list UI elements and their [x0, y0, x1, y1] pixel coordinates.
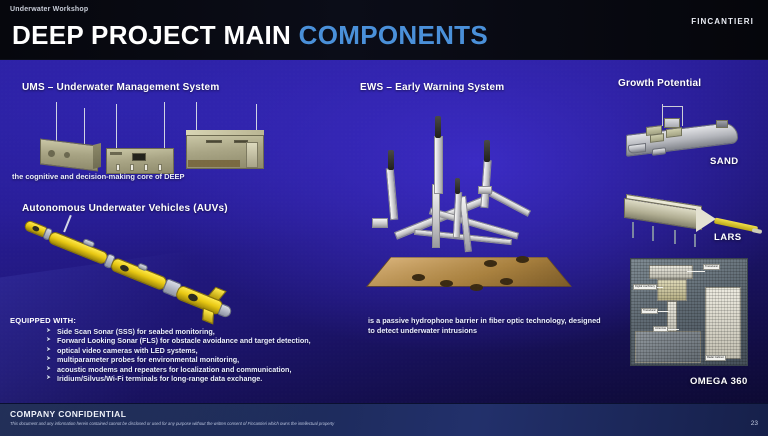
omega-antenna-panel [635, 331, 701, 363]
auv-mast [63, 215, 71, 232]
ews-bracket [372, 218, 388, 228]
container-band [188, 160, 240, 167]
section-heading-ews: EWS – Early Warning System [360, 82, 504, 93]
hydrophone-tip [435, 116, 441, 138]
slide-footer: COMPANY CONFIDENTIAL This document and a… [0, 403, 768, 436]
base-hole [516, 256, 529, 263]
antenna-icon [56, 102, 57, 142]
eyebrow-label: Underwater Workshop [10, 6, 88, 13]
boat-mast [662, 104, 663, 126]
lars-auv-nose [752, 228, 763, 234]
fincantieri-logo: FINCANTIERI [691, 17, 754, 26]
antenna-icon [164, 102, 165, 148]
boat-sponson [652, 147, 666, 156]
confidentiality-label: COMPANY CONFIDENTIAL [10, 409, 126, 419]
slide-header: Underwater Workshop DEEP PROJECT MAIN CO… [0, 0, 768, 60]
lars-leg [674, 230, 676, 244]
equipped-with-title: EQUIPPED WITH: [10, 316, 355, 325]
knob-detail [158, 164, 162, 171]
antenna-icon [116, 104, 117, 148]
antenna-icon [196, 102, 197, 132]
hydrophone-tip [388, 150, 394, 170]
base-hole [470, 284, 483, 291]
ums-illustration [20, 102, 270, 182]
section-heading-ums: UMS – Underwater Management System [22, 82, 219, 93]
growth-label-lars: LARS [714, 232, 741, 243]
base-hole [500, 278, 513, 285]
lars-leg [632, 222, 634, 238]
omega-transducer-head [649, 265, 693, 279]
omega-callout-machinery: Digital machinery [633, 284, 657, 290]
cargo-module [650, 133, 664, 143]
knob-detail [144, 164, 148, 171]
omega-callout-antennas: Antennas [653, 326, 668, 332]
page-title: DEEP PROJECT MAIN COMPONENTS [12, 20, 488, 50]
vent-detail [64, 152, 70, 158]
page-number: 23 [751, 420, 758, 427]
slide-body: UMS – Underwater Management System [0, 60, 768, 403]
base-hole [484, 260, 497, 267]
list-item: multiparameter probes for environmental … [46, 355, 355, 364]
vent-detail [110, 152, 122, 155]
base-hole [412, 274, 425, 281]
omega-callout-radar-cabinet: Radar Cabinet [705, 355, 726, 361]
callout-leader [687, 271, 705, 272]
antenna-icon [256, 104, 257, 132]
slide-root: Underwater Workshop DEEP PROJECT MAIN CO… [0, 0, 768, 436]
hydrophone-tip [484, 140, 490, 162]
knob-detail [116, 164, 120, 171]
auv-illustration [22, 222, 272, 304]
omega-machinery [657, 279, 687, 301]
omega-radar-cabinet [705, 287, 741, 359]
disclaimer-text: This document and any information herein… [10, 421, 630, 427]
omega-photo: Transducer Digital machinery Transducer … [630, 258, 748, 366]
display-panel [132, 153, 146, 161]
ews-description: is a passive hydrophone barrier in fiber… [368, 316, 608, 336]
auv-midsection [47, 230, 109, 265]
knob-detail [130, 164, 134, 171]
lars-launch-cone [696, 206, 716, 232]
ews-base-plate [366, 257, 572, 287]
list-item: Iridium/Silvus/Wi-Fi terminals for long-… [46, 374, 355, 383]
lars-leg [694, 234, 696, 247]
hydrophone-post [434, 136, 443, 194]
growth-label-omega: OMEGA 360 [690, 376, 748, 387]
equipped-with-block: EQUIPPED WITH: Side Scan Sonar (SSS) for… [10, 316, 355, 383]
section-heading-auv: Autonomous Underwater Vehicles (AUVs) [22, 203, 228, 214]
ews-illustration [370, 108, 580, 308]
hydrophone-post [480, 160, 491, 208]
base-hole [440, 280, 453, 287]
growth-label-sand: SAND [710, 156, 739, 167]
hydrophone-tip [455, 178, 460, 194]
lars-leg [652, 226, 654, 241]
antenna-icon [84, 108, 85, 144]
section-heading-growth: Growth Potential [618, 78, 701, 89]
auv-payload-section [109, 257, 168, 292]
ums-shelter-side [93, 143, 101, 169]
container-door [246, 142, 258, 168]
omega-callout-transducer-mid: Transducer [641, 308, 658, 314]
hydrophone-post [453, 192, 462, 238]
sand-illustration [620, 104, 750, 164]
ews-bracket [478, 186, 492, 194]
stern-equipment [716, 120, 728, 128]
omega-callout-transducer-top: Transducer [703, 264, 720, 270]
boat-mast [682, 106, 683, 126]
omega-mast [667, 301, 677, 337]
lars-illustration [622, 196, 757, 254]
boat-crossbar [662, 106, 683, 107]
container-label [206, 140, 222, 143]
list-item: Forward Looking Sonar (FLS) for obstacle… [46, 336, 355, 345]
vent-detail [48, 150, 55, 157]
title-main-text: DEEP PROJECT MAIN [12, 20, 299, 50]
title-accent-text: COMPONENTS [299, 20, 488, 50]
ews-frame-beam [489, 190, 531, 217]
hydrophone-post [386, 168, 399, 220]
list-item: optical video cameras with LED systems, [46, 346, 355, 355]
list-item: acoustic modems and repeaters for locali… [46, 365, 355, 374]
ums-caption: the cognitive and decision-making core o… [12, 172, 185, 181]
equipped-with-list: Side Scan Sonar (SSS) for seabed monitor… [46, 327, 355, 383]
list-item: Side Scan Sonar (SSS) for seabed monitor… [46, 327, 355, 336]
